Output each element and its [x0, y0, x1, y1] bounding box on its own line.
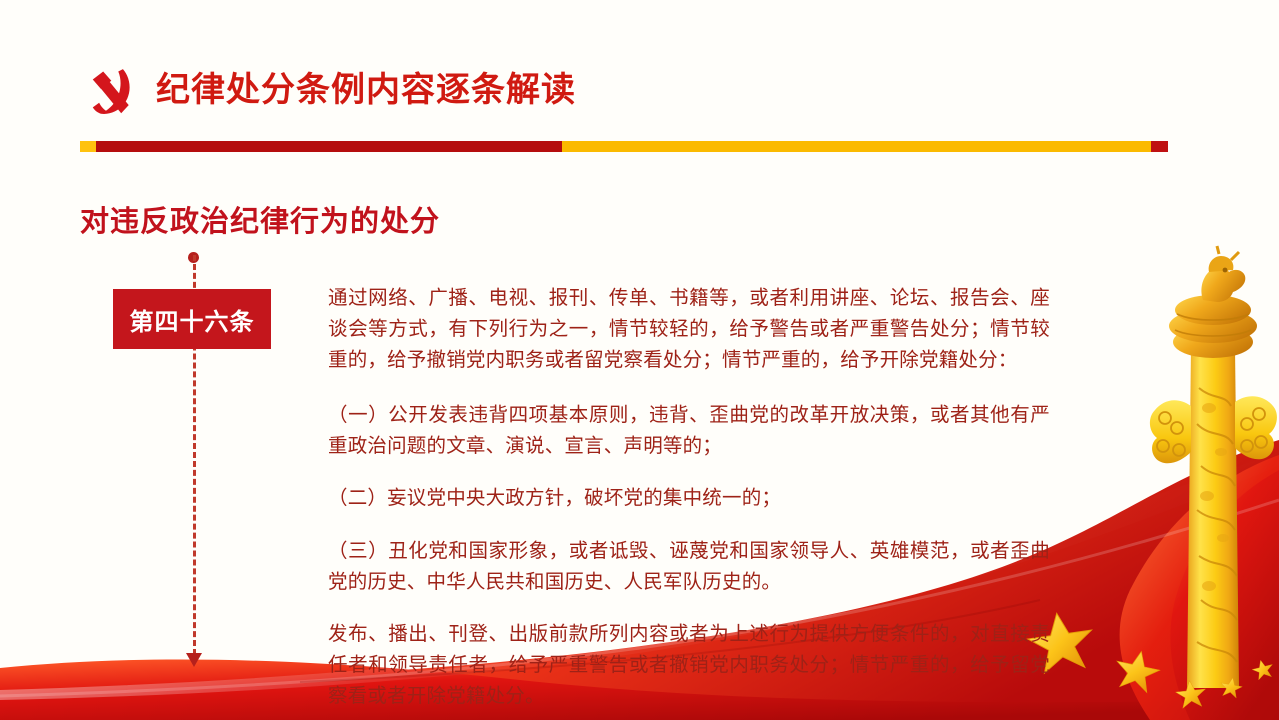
slide-canvas: 纪律处分条例内容逐条解读 对违反政治纪律行为的处分 第四十六条 通过网络、广播、… — [0, 0, 1279, 720]
article-clause-2: （二）妄议党中央大政方针，破坏党的集中统一的； — [328, 483, 1050, 514]
page-title: 纪律处分条例内容逐条解读 — [156, 73, 576, 107]
article-clause-1: （一）公开发表违背四项基本原则，违背、歪曲党的改革开放决策，或者其他有严重政治问… — [328, 400, 1050, 462]
article-body: 通过网络、广播、电视、报刊、传单、书籍等，或者利用讲座、论坛、报告会、座谈会等方… — [328, 283, 1050, 712]
slide-header: 纪律处分条例内容逐条解读 — [80, 55, 576, 125]
cpc-party-emblem-icon — [80, 61, 138, 119]
header-rule-bar — [80, 141, 1168, 152]
connector-arrow-icon — [186, 653, 202, 667]
section-subtitle: 对违反政治纪律行为的处分 — [80, 198, 440, 240]
golden-huabiao-column — [1147, 238, 1279, 688]
rule-segment-gold — [562, 141, 1151, 152]
article-number-badge: 第四十六条 — [113, 289, 271, 349]
article-paragraph-lead: 通过网络、广播、电视、报刊、传单、书籍等，或者利用讲座、论坛、报告会、座谈会等方… — [328, 283, 1050, 376]
article-clause-3: （三）丑化党和国家形象，或者诋毁、诬蔑党和国家领导人、英雄模范，或者歪曲党的历史… — [328, 536, 1050, 598]
rule-segment-gold-start — [80, 141, 96, 152]
article-paragraph-closing: 发布、播出、刊登、出版前款所列内容或者为上述行为提供方便条件的，对直接责任者和领… — [328, 619, 1050, 712]
rule-segment-red-end — [1151, 141, 1168, 152]
rule-segment-red — [96, 141, 562, 152]
